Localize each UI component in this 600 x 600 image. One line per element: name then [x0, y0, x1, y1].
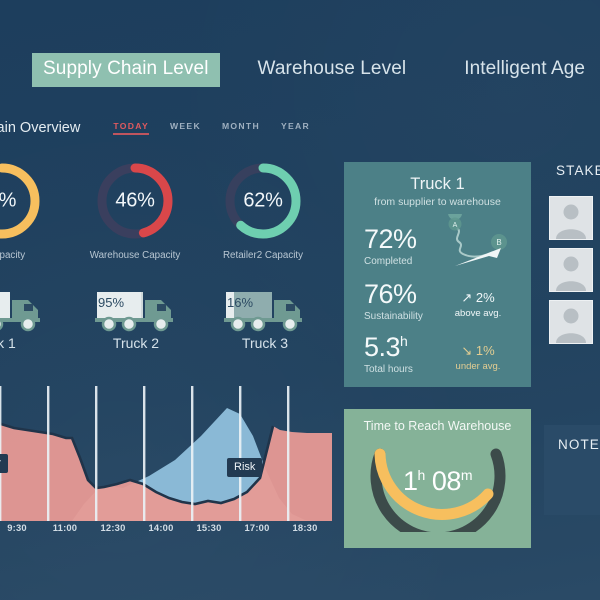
truck-item-3[interactable]: 16% Truck 3 [210, 288, 320, 351]
truck-item-1[interactable]: % ck 1 [0, 288, 58, 351]
avatar-icon [550, 197, 592, 239]
donut-value-warehouse: 46% [92, 190, 178, 213]
metric-completed: 72% Completed [364, 226, 417, 267]
x-tick-0: 9:30 [7, 522, 27, 533]
truck-label-3: Truck 3 [210, 335, 320, 351]
arrow-up-icon: ↗ [461, 290, 472, 305]
overview-header: Chain Overview TODAY WEEK MONTH YEAR [0, 115, 600, 141]
avatar-icon [550, 249, 592, 291]
time-range-filters: TODAY WEEK MONTH YEAR [113, 121, 310, 135]
donut-caption-retailer1: 1 Capacity [0, 250, 52, 261]
truck-icon: 95% [81, 288, 191, 334]
truck-card-title: Truck 1 [344, 175, 531, 194]
page-title: Chain Overview [0, 120, 80, 136]
chart-svg [0, 386, 332, 521]
svg-text:B: B [496, 238, 501, 247]
metric-sustainability-value: 76% [364, 281, 423, 308]
donut-warehouse-capacity[interactable]: 46% Warehouse Capacity [85, 158, 185, 261]
metric-total-hours: 5.3h Total hours [364, 334, 413, 375]
x-tick-4: 15:30 [197, 522, 222, 533]
truck-label-2: Truck 2 [81, 335, 191, 351]
metric-completed-value: 72% [364, 226, 417, 253]
chart-x-axis: 9:30 11:00 12:30 14:00 15:30 17:00 18:30 [0, 522, 340, 544]
notes-title: NOTE [558, 437, 600, 452]
metric-completed-label: Completed [364, 256, 417, 267]
tab-intelligent-agent[interactable]: Intelligent Age [453, 53, 596, 87]
avatar[interactable] [549, 300, 593, 344]
truck-icon: % [0, 288, 58, 334]
truck-item-2[interactable]: 95% Truck 2 [81, 288, 191, 351]
metric-total-hours-value: 5.3h [364, 334, 413, 361]
donut-value-retailer1: 4% [0, 190, 45, 213]
delta-total-hours-value: ↘ 1% [441, 343, 515, 359]
truck-percent-2: 95% [89, 295, 133, 310]
delta-sustainability-label: above avg. [441, 308, 515, 319]
arrow-down-icon: ↘ [461, 343, 472, 358]
gauge-minutes: 08 [432, 466, 461, 496]
metric-total-hours-label: Total hours [364, 364, 413, 375]
chart-label-profitability: Profitability [0, 454, 8, 473]
tab-supply-chain-level[interactable]: Supply Chain Level [32, 53, 220, 87]
filter-month[interactable]: MONTH [222, 121, 260, 135]
metric-hours-number: 5.3 [364, 332, 400, 362]
svg-text:A: A [453, 222, 458, 229]
metric-hours-unit: h [400, 333, 407, 349]
x-tick-5: 17:00 [245, 522, 270, 533]
filter-today[interactable]: TODAY [113, 121, 149, 135]
filter-year[interactable]: YEAR [281, 121, 310, 135]
time-to-warehouse-card[interactable]: Time to Reach Warehouse 1h 08m [344, 409, 531, 548]
time-card-title: Time to Reach Warehouse [344, 419, 531, 433]
gauge-hours: 1 [403, 466, 418, 496]
donut-caption-warehouse: Warehouse Capacity [85, 250, 185, 261]
donut-retailer1-capacity[interactable]: 4% 1 Capacity [0, 158, 52, 261]
time-gauge-value: 1h 08m [358, 466, 518, 497]
capacity-donuts: 4% 1 Capacity 46% Warehouse Capacity 62%… [0, 158, 340, 276]
main-tab-bar: Supply Chain Level Warehouse Level Intel… [0, 52, 600, 88]
stakeholders-title: STAKE [556, 163, 600, 178]
tab-warehouse-level[interactable]: Warehouse Level [247, 53, 418, 87]
filter-week[interactable]: WEEK [170, 121, 201, 135]
route-map-icon: A B [437, 214, 523, 281]
donut-ring-warehouse: 46% [92, 158, 178, 244]
avatar[interactable] [549, 248, 593, 292]
donut-value-retailer2: 62% [220, 190, 306, 213]
truck-label-1: ck 1 [0, 335, 58, 351]
x-tick-3: 14:00 [149, 522, 174, 533]
donut-retailer2-capacity[interactable]: 62% Retailer2 Capacity [213, 158, 313, 261]
truck-status-row: % ck 1 95% Truck 2 [0, 288, 340, 363]
profitability-risk-chart[interactable]: Profitability Risk [0, 386, 332, 521]
gauge-hours-unit: h [418, 467, 425, 483]
truck-detail-card[interactable]: Truck 1 from supplier to warehouse A B 7… [344, 162, 531, 387]
truck-icon: 16% [210, 288, 320, 334]
chart-label-risk: Risk [227, 458, 262, 477]
metric-sustainability-label: Sustainability [364, 311, 423, 322]
avatar[interactable] [549, 196, 593, 240]
time-gauge: 1h 08m [358, 436, 518, 532]
donut-caption-retailer2: Retailer2 Capacity [213, 250, 313, 261]
gauge-minutes-unit: m [461, 467, 472, 483]
metric-sustainability: 76% Sustainability [364, 281, 423, 322]
delta-sustainability-value: ↗ 2% [441, 290, 515, 306]
x-tick-2: 12:30 [101, 522, 126, 533]
delta-total-hours: ↘ 1% under avg. [441, 343, 515, 372]
delta-total-hours-number: 1% [476, 343, 495, 358]
x-tick-6: 18:30 [293, 522, 318, 533]
delta-sustainability: ↗ 2% above avg. [441, 290, 515, 319]
x-tick-1: 11:00 [53, 522, 77, 533]
donut-ring-retailer2: 62% [220, 158, 306, 244]
avatar-icon [550, 301, 592, 343]
delta-sustainability-number: 2% [476, 290, 495, 305]
delta-total-hours-label: under avg. [441, 361, 515, 372]
donut-ring-retailer1: 4% [0, 158, 45, 244]
truck-percent-3: 16% [218, 295, 262, 310]
truck-card-subtitle: from supplier to warehouse [344, 196, 531, 208]
